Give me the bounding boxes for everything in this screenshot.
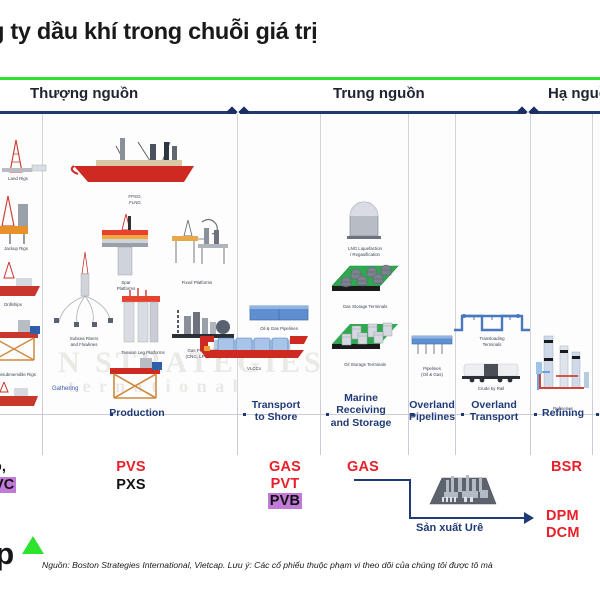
urea-plant-illustration [424,470,498,512]
ticker-group-pvc: tro, PVC [0,459,16,494]
ticker-bsr[interactable]: BSR [551,459,582,475]
vietcap-logo-text: ap [0,536,14,572]
land-rigs-caption: Land Rigs [0,176,42,182]
fpso-flng-art [66,136,202,190]
jackup-rigs-caption: Jackup Rigs [0,246,42,252]
ticker-pvt[interactable]: PVT [261,476,309,492]
drillships-caption: Drillships [0,302,38,308]
stage-sep-3 [320,400,321,455]
page-title: ông ty dầu khí trong chuỗi giá trị [0,18,600,45]
ticker-group-pvs-pxs: PVS PXS [108,459,154,493]
column-divider-7 [592,114,593,411]
value-chain-illustration-panel: N STRATEGIES t e r n a t i o n a l Land … [0,114,600,411]
ticker-pvb[interactable]: PVB [268,493,302,509]
stage-refining[interactable]: Refining [536,407,590,419]
overland-pipelines-art [410,332,454,364]
fixed-platforms-caption: Fixed Platforms [166,280,228,286]
ticker-group-gas-pvt-pvb: GAS PVT PVB [261,459,309,510]
vlcc-caption: VLCCs [232,366,276,372]
oil-storage-terminals-caption: Oil Storage Terminals [326,362,404,368]
band-label-downstream: Hạ nguồn [548,85,600,102]
oil-storage-terminals-art [328,314,402,360]
stage-dot-end [596,413,599,416]
band-label-upstream: Thượng nguồn [30,85,138,102]
stage-sep-6 [530,400,531,455]
semisubmersible-rigs-art [0,314,50,372]
ticker-pvs[interactable]: PVS [108,459,154,475]
ticker-dpm[interactable]: DPM [546,508,580,524]
ticker-gas-transport[interactable]: GAS [261,459,309,475]
stage-dot-overland-transport [461,413,464,416]
source-note: Nguồn: Boston Strategies International, … [42,560,600,570]
tension-leg-platforms-art [112,282,172,348]
oil-gas-pipelines-art [248,302,310,324]
ticker-pvc[interactable]: PVC [0,477,16,493]
oil-gas-pipelines-caption: Oil & Gas Pipelines [244,326,314,332]
slide-root: ông ty dầu khí trong chuỗi giá trị Thượn… [0,0,600,600]
vlcc-tanker-art [196,330,312,364]
drillships-art [0,262,48,302]
stage-sep-7 [592,400,593,455]
refineries-art [534,332,592,404]
transloading-terminals-caption: Transloading Terminals [458,336,526,347]
gas-storage-terminals-caption: Gas Storage Terminals [326,304,404,310]
jackup-rigs-art [0,192,48,244]
subsea-risers-caption: Subsea Risers and Flowlines [52,336,116,347]
ticker-gas-midstream[interactable]: GAS [347,459,379,475]
semisubmersible-platforms-art [102,354,174,410]
semisubmersible-rigs-caption: Semisubmersible Rigs [0,372,44,378]
stage-sep-1 [42,400,43,455]
gas-storage-terminals-art [328,256,402,302]
transloading-terminals-art [452,296,532,336]
stage-sep-2 [237,400,238,455]
subsea-risers-art [48,248,122,334]
gathering-label: Gathering [52,386,114,394]
stage-dot-transport [243,413,246,416]
stage-dot-marine [326,413,329,416]
vietcap-logo-triangle-icon [22,536,44,554]
stage-marine-receiving-and-storage[interactable]: Marine Receiving and Storage [330,392,392,429]
urea-label: Sản xuất Urê [416,522,483,534]
stage-overland-transport[interactable]: Overland Transport [466,399,522,424]
crude-by-rail-caption: Crude by Rail [458,386,524,392]
land-rigs-art [0,132,48,174]
overland-pipelines-caption: Pipelines (Oil & Gas) [408,366,456,377]
stage-transport-to-shore[interactable]: Transport to Shore [248,399,304,424]
fixed-platforms-art [162,214,234,278]
stage-production[interactable]: Production [87,407,187,419]
stage-overland-pipelines[interactable]: Overland Pipelines [406,399,458,424]
drilling-barges-art [0,382,48,411]
band-label-midstream: Trung nguồn [333,85,425,102]
crude-by-rail-art [460,360,522,384]
ticker-pxs[interactable]: PXS [108,477,154,493]
column-divider-6 [530,114,531,411]
ticker-petro[interactable]: tro, [0,459,16,475]
ticker-dcm[interactable]: DCM [546,525,580,541]
ticker-group-dpm-dcm: DPM DCM [546,508,580,541]
lng-liquefaction-art [345,196,383,244]
fpso-flng-caption: FPSO, FLNG [112,194,158,205]
